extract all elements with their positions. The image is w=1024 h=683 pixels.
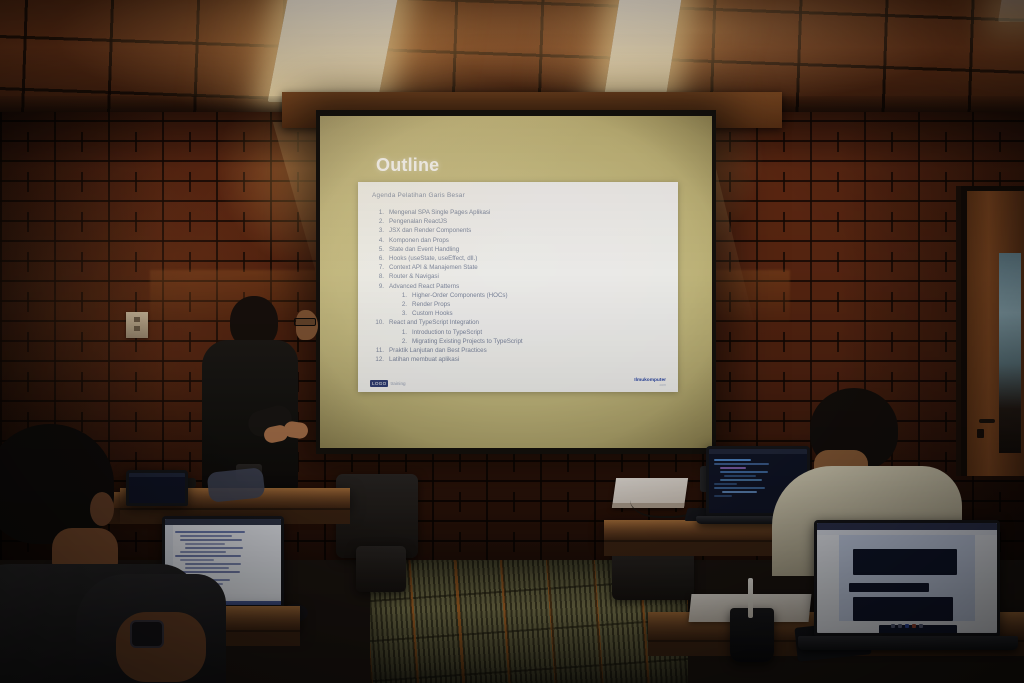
slide-logo-mark: LOGO [370, 380, 388, 387]
slide-outline-item: 6.Hooks (useState, useEffect, dll.) [368, 254, 668, 263]
slide-outline-item-number: 4. [368, 236, 389, 245]
light-switch-rocker-a[interactable] [134, 317, 140, 322]
slide-outline-item-text: React and TypeScript Integration [389, 318, 479, 327]
presentation-slide: Outline Agenda Pelatihan Garis Besar 1.M… [346, 150, 694, 402]
slide-outline-item: 1.Higher-Order Components (HOCs) [368, 291, 668, 300]
slide-logo-text: training [390, 381, 405, 386]
slide-outline-item-text: Pengenalan ReactJS [389, 217, 447, 226]
slide-outline-item-text: JSX dan Render Components [389, 226, 471, 235]
slide-outline-item-text: Praktik Lanjutan dan Best Practices [389, 346, 487, 355]
slide-outline-item-text: Komponen dan Props [389, 236, 449, 245]
slide-outline-item: 4.Komponen dan Props [368, 236, 668, 245]
slide-footer-logo: LOGO training [370, 380, 406, 387]
slide-outline-item-number: 2. [394, 300, 412, 309]
document-page [839, 535, 975, 621]
slide-outline-item-number: 7. [368, 263, 389, 272]
slide-outline-item-number: 8. [368, 272, 389, 281]
door-lock-icon[interactable] [977, 429, 984, 438]
slide-outline-item-number: 12. [368, 355, 389, 364]
room-photo-scene: Outline Agenda Pelatihan Garis Besar 1.M… [0, 0, 1024, 683]
slide-outline-item-text: Router & Navigasi [389, 272, 439, 281]
slide-outline-item-text: Advanced React Patterns [389, 282, 459, 291]
slide-outline-item-number: 3. [394, 309, 412, 318]
slide-outline-item-text: Higher-Order Components (HOCs) [412, 291, 508, 300]
slide-outline-item: 7.Context API & Manajemen State [368, 263, 668, 272]
slide-outline-item: 12.Latihan membuat aplikasi [368, 355, 668, 364]
slide-content-card: Agenda Pelatihan Garis Besar 1.Mengenal … [358, 182, 678, 392]
slide-outline-item-number: 9. [368, 282, 389, 291]
slide-outline-item: 10.React and TypeScript Integration [368, 318, 668, 327]
folded-cloth[interactable] [207, 467, 266, 503]
slide-footer-brand: Ilmukomputer .com [634, 378, 666, 387]
slide-outline-item: 3.JSX dan Render Components [368, 226, 668, 235]
slide-outline-item-number: 6. [368, 254, 389, 263]
laptop-front-right-base[interactable] [798, 636, 1018, 650]
slide-brand-secondary: .com [634, 383, 666, 387]
projection-screen: Outline Agenda Pelatihan Garis Besar 1.M… [316, 110, 716, 454]
slide-outline-item-number: 1. [368, 208, 389, 217]
slide-outline-item-number: 1. [394, 328, 412, 337]
laptop-front-right[interactable] [814, 520, 1000, 636]
slide-outline-item-number: 2. [394, 337, 412, 346]
slide-outline-item-text: Latihan membuat aplikasi [389, 355, 459, 364]
slide-outline-item-number: 5. [368, 245, 389, 254]
light-switch-plate[interactable] [126, 312, 148, 338]
wristwatch [130, 620, 164, 648]
light-switch-rocker-b[interactable] [134, 326, 140, 331]
ceiling-light-fixture-3 [998, 0, 1024, 22]
glasses-icon [294, 318, 316, 326]
slide-outline-item-text: Migrating Existing Projects to TypeScrip… [412, 337, 523, 346]
slide-outline-item-text: Context API & Manajemen State [389, 263, 478, 272]
slide-outline-item-number: 2. [368, 217, 389, 226]
slide-outline-item: 11.Praktik Lanjutan dan Best Practices [368, 346, 668, 355]
ceiling-light-fixture-1 [268, 0, 399, 102]
door-handle[interactable] [979, 419, 995, 423]
slide-outline-item-text: Render Props [412, 300, 450, 309]
slide-outline-item: 5.State dan Event Handling [368, 245, 668, 254]
slide-outline-item: 2.Pengenalan ReactJS [368, 217, 668, 226]
slide-outline-item: 1.Mengenal SPA Single Pages Aplikasi [368, 208, 668, 217]
slide-outline-item-number: 11. [368, 346, 389, 355]
slide-outline-item: 3.Custom Hooks [368, 309, 668, 318]
slide-footer: LOGO training Ilmukomputer .com [358, 375, 678, 387]
slide-outline-item-text: Custom Hooks [412, 309, 453, 318]
slide-outline-item-number: 10. [368, 318, 389, 327]
slide-outline-item-text: State dan Event Handling [389, 245, 459, 254]
slide-outline-item-number: 3. [368, 226, 389, 235]
slide-subtitle: Agenda Pelatihan Garis Besar [372, 192, 465, 199]
slide-outline-item: 2.Render Props [368, 300, 668, 309]
attendee-fg-ear [90, 492, 114, 526]
chair-center-low[interactable] [356, 546, 406, 592]
slide-outline-item: 2.Migrating Existing Projects to TypeScr… [368, 337, 668, 346]
slide-outline-item: 8.Router & Navigasi [368, 272, 668, 281]
laptop-front-right-screen[interactable] [817, 523, 997, 633]
attendee-fg-head [0, 424, 114, 544]
slide-title: Outline [376, 155, 439, 176]
slide-outline-item: 9.Advanced React Patterns [368, 282, 668, 291]
pen[interactable] [748, 578, 753, 618]
laptop-front-right-lid [814, 520, 1000, 636]
attendee-foreground-left [0, 424, 210, 683]
projection-surface: Outline Agenda Pelatihan Garis Besar 1.M… [320, 116, 712, 448]
door-glass-panel [999, 253, 1021, 453]
slide-outline-item-number: 1. [394, 291, 412, 300]
slide-outline-item-text: Hooks (useState, useEffect, dll.) [389, 254, 477, 263]
slide-outline-item-text: Introduction to TypeScript [412, 328, 482, 337]
slide-outline-list: 1.Mengenal SPA Single Pages Aplikasi2.Pe… [368, 208, 668, 364]
wooden-door[interactable] [967, 191, 1024, 476]
slide-outline-item: 1.Introduction to TypeScript [368, 328, 668, 337]
slide-outline-item-text: Mengenal SPA Single Pages Aplikasi [389, 208, 490, 217]
